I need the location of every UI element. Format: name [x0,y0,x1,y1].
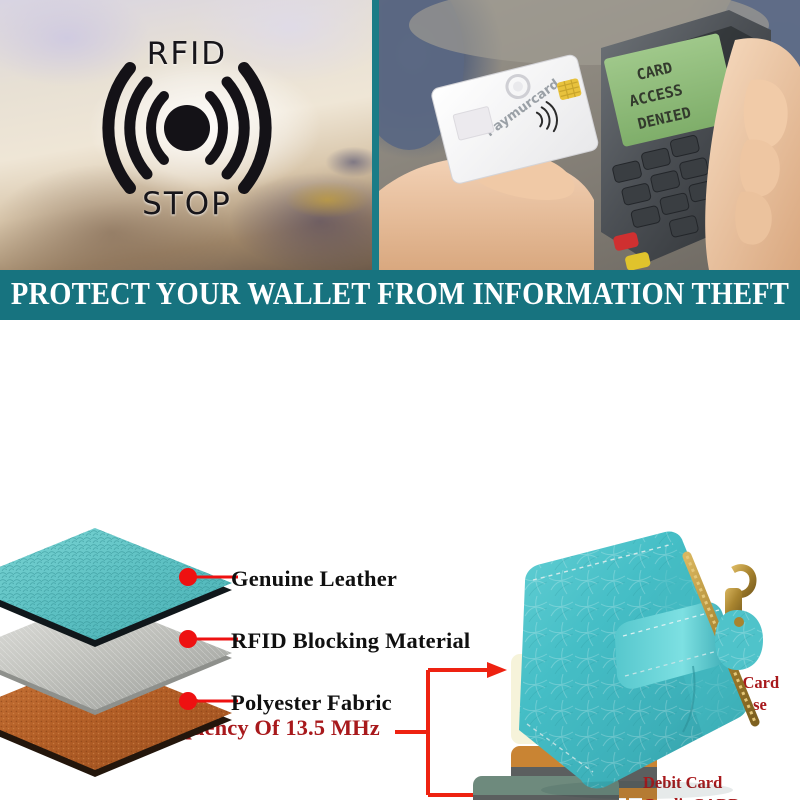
frequency-section: Blocks Upto Frequency Of 13.5 MHz [0,320,800,520]
turquoise-leather-wallet [497,518,800,800]
rfid-logo-top-text: RFID [92,36,282,72]
rfid-stop-logo: RFID STOP [92,38,282,218]
rfid-wave-icon [92,38,282,218]
rfid-logo-bottom-text: STOP [92,186,282,222]
photo-divider [372,0,379,270]
material-layers-diagram [0,515,340,800]
headline-banner: PROTECT YOUR WALLET FROM INFORMATION THE… [0,270,800,320]
callout-dot-leather [179,568,197,586]
layer-label-rfid-blocking-material: RFID Blocking Material [231,628,470,654]
top-photo-row: RFID STOP [0,0,800,270]
zipper-pull [715,568,763,670]
layer-label-polyester-fabric: Polyester Fabric [231,690,392,716]
connector-arrows [395,670,487,795]
callout-dot-polyester [179,692,197,710]
infographic-page: RFID STOP [0,0,800,800]
pos-terminal-photo: Paymurcard CARD [379,0,800,270]
headline-text: PROTECT YOUR WALLET FROM INFORMATION THE… [11,277,789,313]
rfid-stop-logo-photo: RFID STOP [0,0,372,270]
layer-label-genuine-leather: Genuine Leather [231,566,397,592]
callout-dot-rfid [179,630,197,648]
